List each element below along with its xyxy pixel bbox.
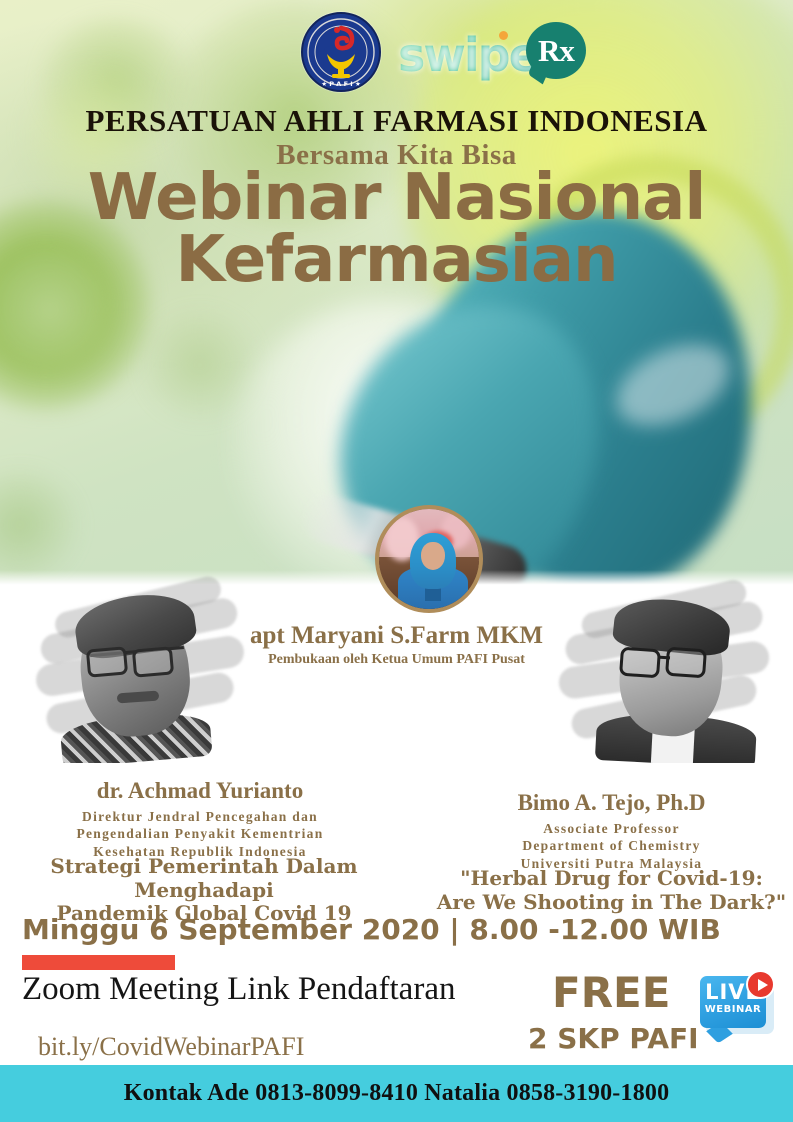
right-speaker-role: Associate Professor Department of Chemis… [430, 820, 793, 872]
left-speaker-role-line-2: Pengendalian Penyakit Kementrian [0, 825, 400, 842]
left-speaker-portrait [35, 588, 250, 763]
event-date-time: Minggu 6 September 2020 | 8.00 -12.00 WI… [22, 913, 721, 946]
left-speaker-role-line-1: Direktur Jendral Pencegahan dan [0, 808, 400, 825]
contact-text: Kontak Ade 0813-8099-8410 Natalia 0858-3… [124, 1080, 670, 1107]
red-accent-bar [22, 955, 175, 970]
portrait-glasses-lens [619, 647, 661, 679]
badge-webinar-label: WEBINAR [700, 1005, 766, 1015]
right-speaker-name: Bimo A. Tejo, Ph.D [430, 790, 793, 816]
portrait-glasses-lens [132, 646, 174, 677]
main-title-line-1: Webinar Nasional [0, 166, 793, 230]
live-webinar-badge: LIVE WEBINAR [700, 972, 778, 1054]
logo-row: ★ P A F I ★ swipe Rx [0, 8, 793, 92]
pafi-logo-icon: ★ P A F I ★ [301, 12, 381, 92]
price-label: FREE [552, 968, 670, 1017]
swipe-wordmark: swipe [398, 28, 538, 82]
credits-label: 2 SKP PAFI [528, 1022, 699, 1055]
left-speaker-role: Direktur Jendral Pencegahan dan Pengenda… [0, 808, 400, 860]
left-speaker-topic-line-1: Strategi Pemerintah Dalam Menghadapi [0, 855, 414, 902]
right-speaker-photo [558, 588, 773, 763]
swiperx-logo: swipe Rx [398, 22, 586, 84]
organization-title: PERSATUAN AHLI FARMASI INDONESIA [0, 103, 793, 139]
registration-link[interactable]: bit.ly/CovidWebinarPAFI [38, 1032, 304, 1062]
right-speaker-role-line-2: Department of Chemistry [430, 837, 793, 854]
right-speaker-topic-line-1: "Herbal Drug for Covid-19: [430, 867, 793, 891]
center-speaker-avatar [375, 505, 483, 613]
portrait-glasses-lens [86, 646, 128, 677]
main-title-line-2: Kefarmasian [0, 228, 793, 292]
swipe-dot-icon [499, 31, 508, 40]
svg-text:★ P A F I ★: ★ P A F I ★ [321, 80, 361, 88]
left-speaker-name: dr. Achmad Yurianto [0, 778, 400, 804]
right-speaker-topic-line-2: Are We Shooting in The Dark?" [430, 891, 793, 915]
right-speaker-role-line-1: Associate Professor [430, 820, 793, 837]
left-speaker-photo [35, 588, 250, 763]
webinar-poster: ★ P A F I ★ swipe Rx PERSATUAN AHLI FARM… [0, 0, 793, 1122]
rx-label: Rx [526, 24, 586, 78]
virus-blur-icon [0, 470, 80, 580]
play-button-icon [746, 970, 775, 999]
right-speaker-topic: "Herbal Drug for Covid-19: Are We Shooti… [430, 867, 793, 914]
contact-bar: Kontak Ade 0813-8099-8410 Natalia 0858-3… [0, 1065, 793, 1122]
event-platform-line: Zoom Meeting Link Pendaftaran [22, 971, 455, 1008]
avatar-face [421, 542, 445, 570]
portrait-glasses-lens [665, 647, 707, 679]
right-speaker-portrait [558, 588, 773, 763]
